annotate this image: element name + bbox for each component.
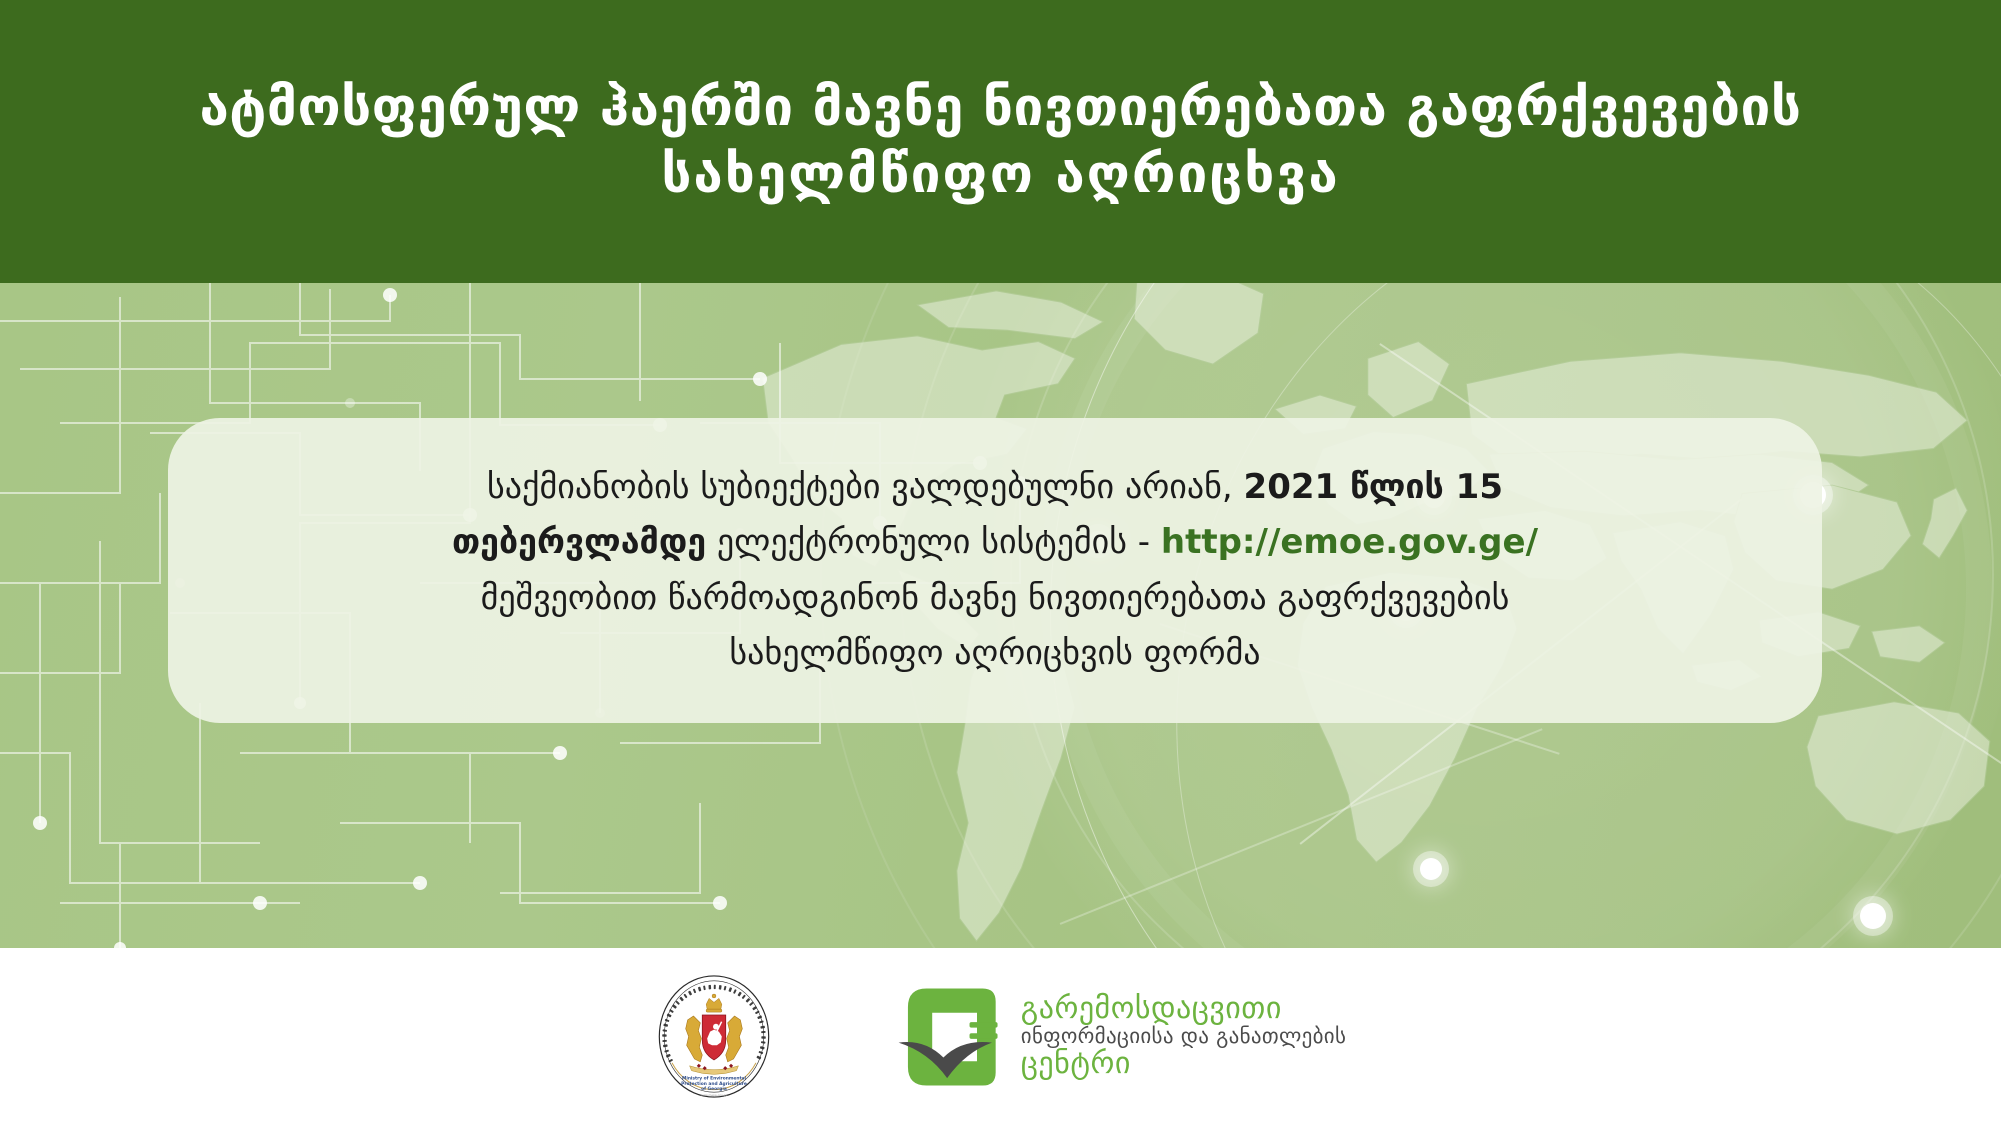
card-deadline-month: თებერვლამდე	[452, 522, 706, 562]
ministry-en-line-1: Ministry of Environmental	[682, 1075, 747, 1081]
ministry-en-line-2: Protection and Agriculture	[681, 1081, 747, 1087]
content-card: საქმიანობის სუბიექტები ვალდებულნი არიან,…	[168, 418, 1822, 723]
card-line-2: თებერვლამდე ელექტრონული სისტემის - http:…	[452, 515, 1538, 570]
header-title-line-2: სახელმწიფო აღრიცხვა	[661, 142, 1339, 208]
card-line-2-text: ელექტრონული სისტემის -	[706, 522, 1161, 562]
ministry-site-url: www.mepa.gov.ge	[700, 1093, 727, 1097]
header-band: ატმოსფერულ ჰაერში მავნე ნივთიერებათა გაფ…	[0, 0, 2001, 283]
poster-root: ატმოსფერულ ჰაერში მავნე ნივთიერებათა გაფ…	[0, 0, 2001, 1125]
header-title-line-1: ატმოსფერულ ჰაერში მავნე ნივთიერებათა გაფ…	[199, 75, 1801, 141]
eiec-logo: გარემოსდაცვითი ინფორმაციისა და განათლები…	[893, 981, 1346, 1093]
card-line-4: სახელმწიფო აღრიცხვის ფორმა	[452, 626, 1538, 681]
map-node-australia	[1860, 903, 1886, 929]
card-line-3: მეშვეობით წარმოადგინონ მავნე ნივთიერებათ…	[452, 571, 1538, 626]
card-line-1-text: საქმიანობის სუბიექტები ვალდებულნი არიან,	[487, 467, 1244, 507]
eiec-book-mark-icon	[893, 981, 1005, 1093]
map-node-south-america	[1420, 858, 1442, 880]
portal-url-link[interactable]: http://emoe.gov.ge/	[1161, 522, 1538, 562]
eiec-text-line-1: გარემოსდაცვითი	[1021, 993, 1346, 1025]
eiec-logo-text: გარემოსდაცვითი ინფორმაციისა და განათლები…	[1021, 993, 1346, 1080]
card-line-1: საქმიანობის სუბიექტები ვალდებულნი არიან,…	[452, 460, 1538, 515]
footer-band: Ministry of Environmental Protection and…	[0, 948, 2001, 1125]
eiec-text-line-2: ინფორმაციისა და განათლების	[1021, 1025, 1346, 1048]
body-band: საქმიანობის სუბიექტები ვალდებულნი არიან,…	[0, 283, 2001, 948]
card-deadline-date: 2021 წლის 15	[1244, 467, 1503, 507]
ministry-en-line-3: of Georgia	[701, 1086, 727, 1092]
content-card-text: საქმიანობის სუბიექტები ვალდებულნი არიან,…	[392, 460, 1598, 680]
ministry-seal-logo: Ministry of Environmental Protection and…	[655, 974, 773, 1099]
eiec-text-line-3: ცენტრი	[1021, 1048, 1346, 1080]
